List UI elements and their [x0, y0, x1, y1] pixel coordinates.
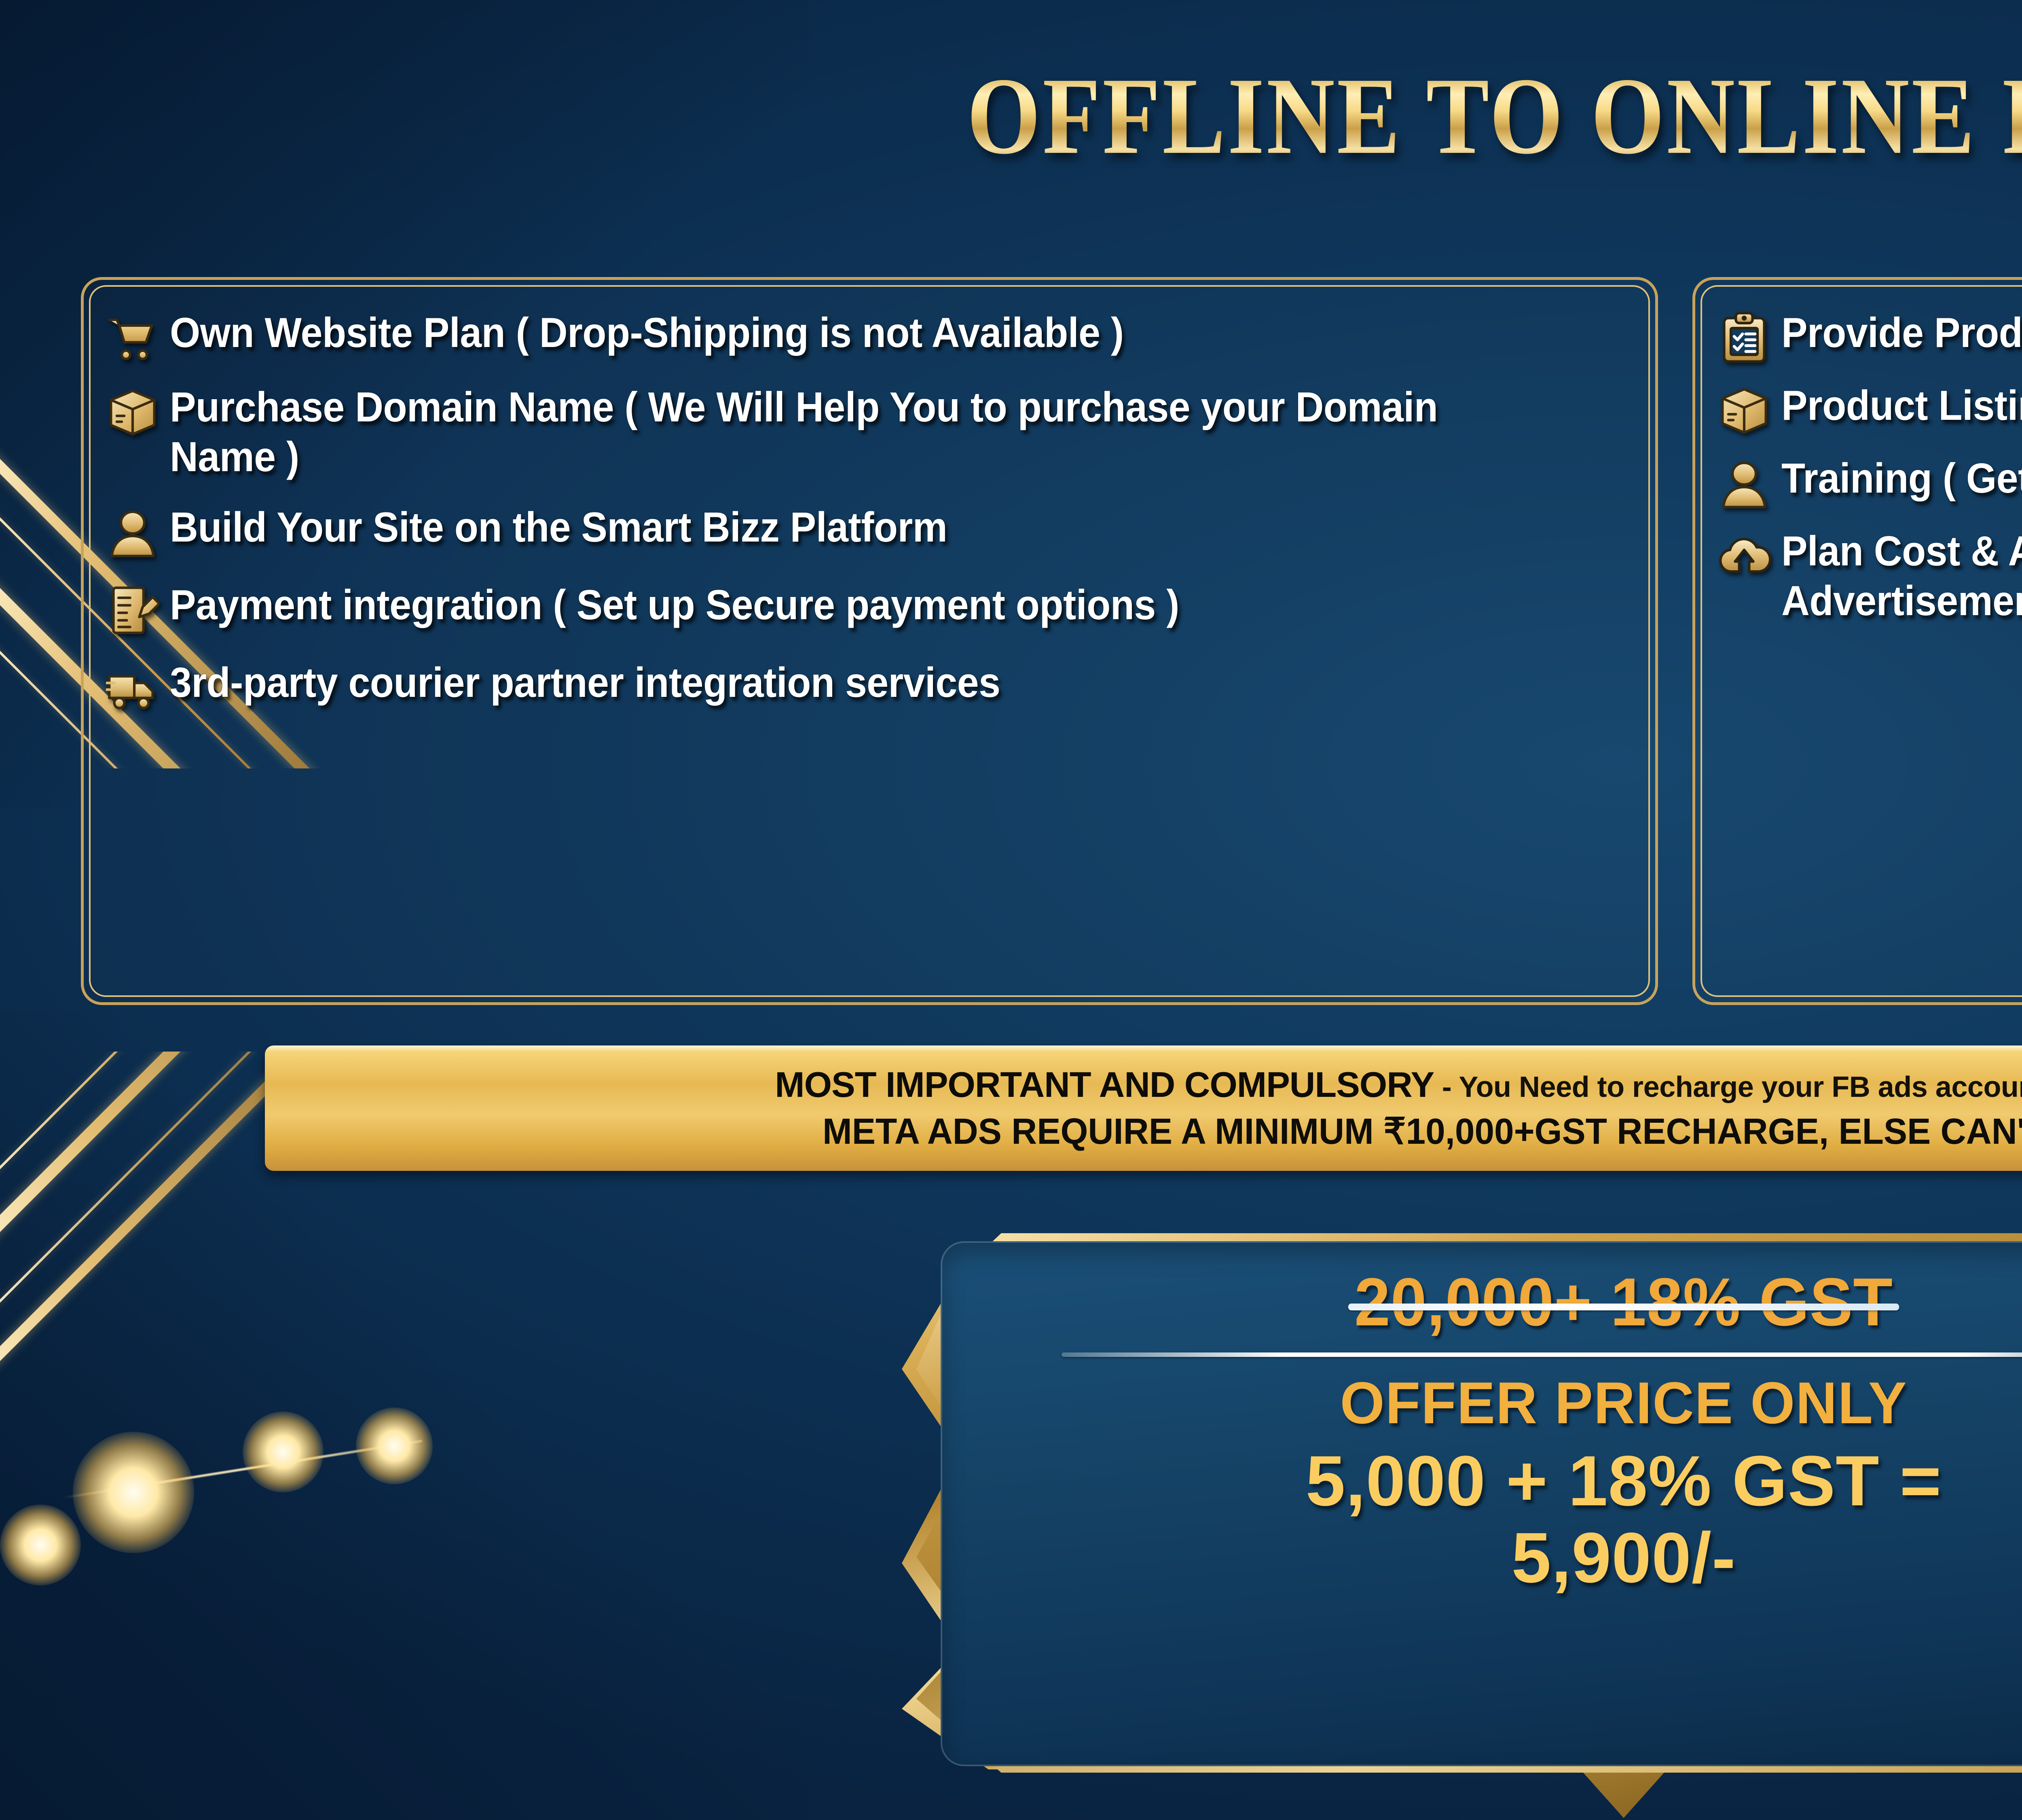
- list-item-label: Provide Product Info ( Client provides p…: [1781, 308, 2022, 358]
- list-item: Own Website Plan ( Drop-Shipping is not …: [106, 308, 1631, 365]
- left-feature-list: Own Website Plan ( Drop-Shipping is not …: [84, 280, 1655, 1002]
- list-item: Product Listing ( We will List 20 produc…: [1717, 381, 2022, 438]
- price-badge: 20,000+ 18% GST OFFER PRICE ONLY 5,000 +…: [902, 1211, 2022, 1818]
- price-badge-face: 20,000+ 18% GST OFFER PRICE ONLY 5,000 +…: [941, 1241, 2022, 1766]
- cloud-upload-icon: [1717, 530, 1771, 583]
- left-feature-panel: Own Website Plan ( Drop-Shipping is not …: [81, 277, 1658, 1005]
- list-item: Provide Product Info ( Client provides p…: [1717, 308, 2022, 365]
- old-price: 20,000+ 18% GST: [1354, 1263, 1893, 1341]
- user-person-icon: [106, 506, 159, 559]
- user-person-icon: [1717, 457, 1771, 510]
- shopping-cart-icon: [106, 311, 159, 365]
- offer-price-value: 5,000 + 18% GST = 5,900/-: [985, 1443, 2022, 1596]
- list-item-label: Purchase Domain Name ( We Will Help You …: [170, 383, 1529, 482]
- delivery-truck-icon: [106, 661, 159, 715]
- notice-line-2: META ADS REQUIRE A MINIMUM ₹10,000+GST R…: [822, 1110, 2022, 1153]
- list-item: Payment integration ( Set up Secure paym…: [106, 580, 1631, 637]
- strikethrough-line: [1348, 1304, 1899, 1310]
- clipboard-checklist-icon: [1717, 311, 1771, 365]
- list-item-label: Training ( Get training for adding more …: [1781, 454, 2022, 504]
- sparkle-dot: [356, 1407, 433, 1484]
- list-item-label: Product Listing ( We will List 20 produc…: [1781, 381, 2022, 431]
- list-item: Plan Cost & Ads ( 5,000+ tax ( Plan Fee …: [1717, 527, 2022, 626]
- list-item-label: Plan Cost & Ads ( 5,000+ tax ( Plan Fee …: [1781, 527, 2022, 626]
- offer-price-line-2: 5,900/-: [1512, 1518, 1736, 1598]
- sparkle-dot: [0, 1505, 81, 1585]
- right-feature-list: Provide Product Info ( Client provides p…: [1695, 280, 2022, 1002]
- list-item: Training ( Get training for adding more …: [1717, 454, 2022, 510]
- package-box-icon: [1717, 384, 1771, 438]
- list-item-label: Own Website Plan ( Drop-Shipping is not …: [170, 308, 1124, 358]
- price-divider: [1062, 1352, 2022, 1357]
- offer-price-label: OFFER PRICE ONLY: [1004, 1369, 2022, 1437]
- sparkle-dot: [73, 1432, 194, 1553]
- document-pencil-icon: [106, 584, 159, 637]
- list-item: 3rd-party courier partner integration se…: [106, 658, 1631, 715]
- list-item-label: Build Your Site on the Smart Bizz Platfo…: [170, 503, 947, 552]
- list-item: Purchase Domain Name ( We Will Help You …: [106, 383, 1631, 482]
- old-price-text: 20,000+ 18% GST: [1354, 1264, 1893, 1340]
- list-item-label: 3rd-party courier partner integration se…: [170, 658, 1000, 708]
- feature-panels: Own Website Plan ( Drop-Shipping is not …: [0, 277, 2022, 1013]
- offer-price-line-1: 5,000 + 18% GST =: [1306, 1441, 1942, 1521]
- notice-strong-text: MOST IMPORTANT AND COMPULSORY: [775, 1064, 1434, 1105]
- right-feature-panel: Provide Product Info ( Client provides p…: [1692, 277, 2022, 1005]
- list-item-label: Payment integration ( Set up Secure paym…: [170, 580, 1179, 630]
- sparkle-dot: [243, 1412, 324, 1492]
- page-title: OFFLINE TO ONLINE PLAN: [226, 53, 2022, 179]
- notice-rest-text: - You Need to recharge your FB ads accou…: [1434, 1071, 2022, 1103]
- notice-line-1: MOST IMPORTANT AND COMPULSORY - You Need…: [775, 1064, 2022, 1105]
- list-item: Build Your Site on the Smart Bizz Platfo…: [106, 503, 1631, 559]
- compulsory-notice-banner: MOST IMPORTANT AND COMPULSORY - You Need…: [265, 1045, 2022, 1171]
- package-box-icon: [106, 386, 159, 439]
- sparkle-decoration: [49, 1407, 534, 1594]
